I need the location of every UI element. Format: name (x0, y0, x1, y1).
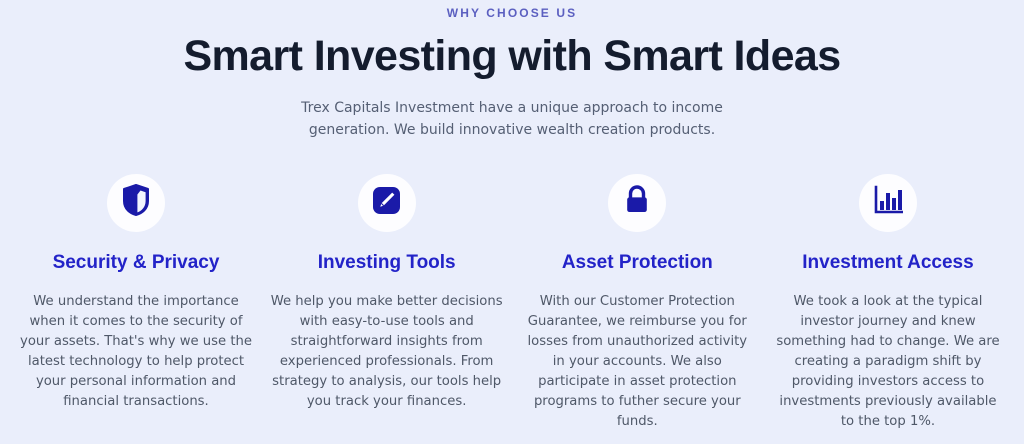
feature-card-list: Security & Privacy We understand the imp… (0, 174, 1024, 432)
shield-icon (123, 184, 149, 221)
feature-card-body: We help you make better decisions with e… (271, 292, 503, 412)
icon-badge (358, 174, 416, 232)
feature-card-title: Security & Privacy (20, 252, 252, 275)
lock-icon (624, 185, 650, 220)
feature-card-asset-protection[interactable]: Asset Protection With our Customer Prote… (513, 174, 761, 432)
feature-card-title: Investment Access (772, 252, 1004, 275)
feature-card-title: Investing Tools (271, 252, 503, 275)
icon-badge (608, 174, 666, 232)
feature-card-body: With our Customer Protection Guarantee, … (521, 292, 753, 432)
icon-badge (107, 174, 165, 232)
section-subtitle: Trex Capitals Investment have a unique a… (277, 97, 747, 142)
feature-card-title: Asset Protection (521, 252, 753, 275)
section-eyebrow: WHY CHOOSE US (0, 6, 1024, 20)
feature-card-investing-tools[interactable]: Investing Tools We help you make better … (263, 174, 511, 412)
feature-card-security-privacy[interactable]: Security & Privacy We understand the imp… (12, 174, 260, 412)
feature-card-investment-access[interactable]: Investment Access We took a look at the … (764, 174, 1012, 432)
pencil-edit-icon (373, 187, 400, 219)
page-title: Smart Investing with Smart Ideas (0, 32, 1024, 80)
bar-chart-icon (873, 185, 903, 220)
why-choose-us-section: WHY CHOOSE US Smart Investing with Smart… (0, 6, 1024, 444)
feature-card-body: We understand the importance when it com… (20, 292, 252, 412)
icon-badge (859, 174, 917, 232)
feature-card-body: We took a look at the typical investor j… (772, 292, 1004, 432)
